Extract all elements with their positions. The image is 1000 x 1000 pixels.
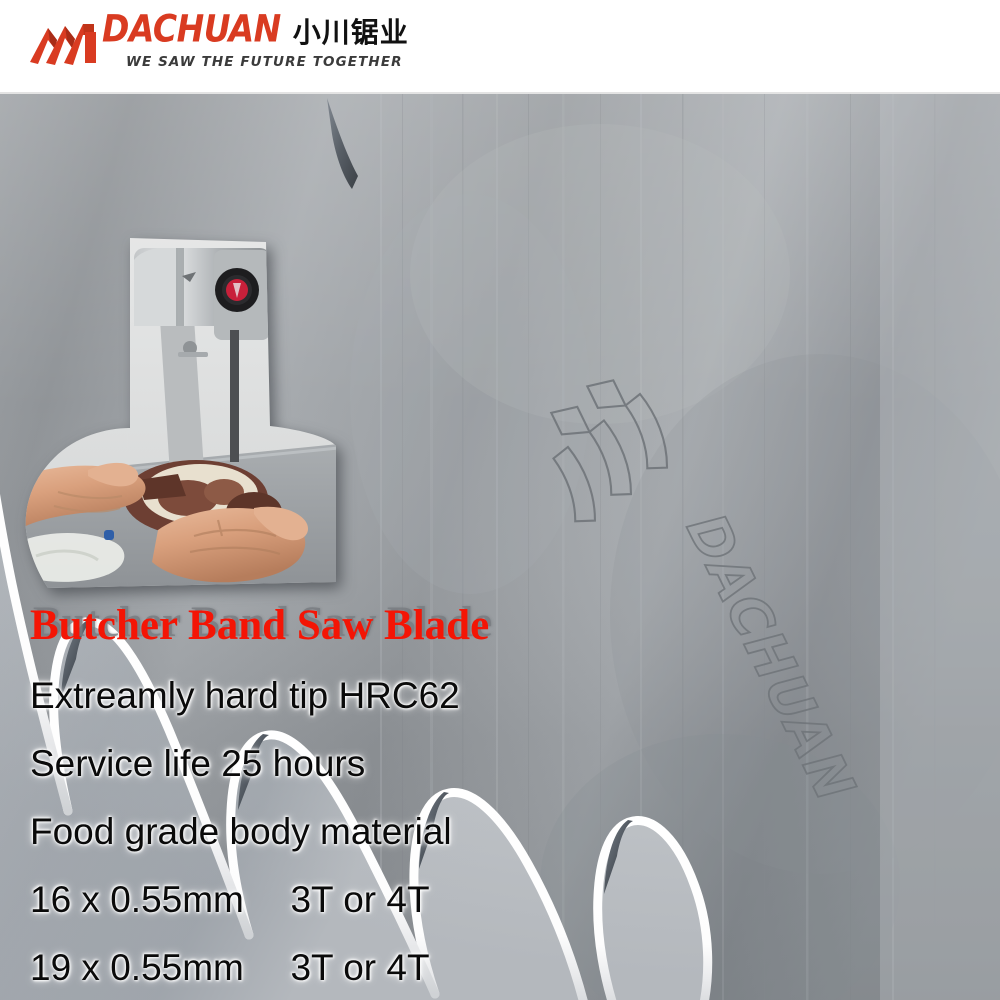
feature-line-1: Extreamly hard tip HRC62: [30, 653, 620, 714]
spec-row-2: 19 x 0.55mm 3T or 4T: [30, 925, 620, 986]
page-title: Butcher Band Saw Blade: [30, 604, 620, 647]
header-divider: [0, 92, 1000, 94]
brand-logo[interactable]: DACHUAN 小川锯业 WE SAW THE FUTURE TOGETHER: [28, 14, 409, 84]
logo-text-column: DACHUAN 小川锯业 WE SAW THE FUTURE TOGETHER: [102, 14, 409, 70]
feature-line-3: Food grade body material: [30, 789, 620, 850]
product-banner: DACHUAN 小川锯业 WE SAW THE FUTURE TOGETHER: [0, 0, 1000, 1000]
brand-wordmark: DACHUAN: [102, 10, 281, 47]
spec-size-2: 19 x 0.55mm: [30, 947, 244, 988]
brand-tagline: WE SAW THE FUTURE TOGETHER: [126, 54, 403, 70]
brand-chinese-name: 小川锯业: [293, 19, 409, 47]
spec-row-1: 16 x 0.55mm 3T or 4T: [30, 857, 620, 918]
site-header: DACHUAN 小川锯业 WE SAW THE FUTURE TOGETHER: [0, 0, 1000, 94]
feature-line-2: Service life 25 hours: [30, 721, 620, 782]
hero-photo: DACHUAN: [0, 94, 1000, 1000]
spec-teeth-2: 3T or 4T: [290, 947, 429, 988]
dachuan-m-mark-icon: [28, 18, 106, 68]
butcher-bandsaw-machine-photo-icon: [18, 230, 338, 590]
spec-size-1: 16 x 0.55mm: [30, 879, 244, 920]
product-copy: Butcher Band Saw Blade Extreamly hard ti…: [0, 604, 620, 993]
spec-teeth-1: 3T or 4T: [290, 879, 429, 920]
logo-primary-row: DACHUAN 小川锯业: [102, 14, 409, 47]
